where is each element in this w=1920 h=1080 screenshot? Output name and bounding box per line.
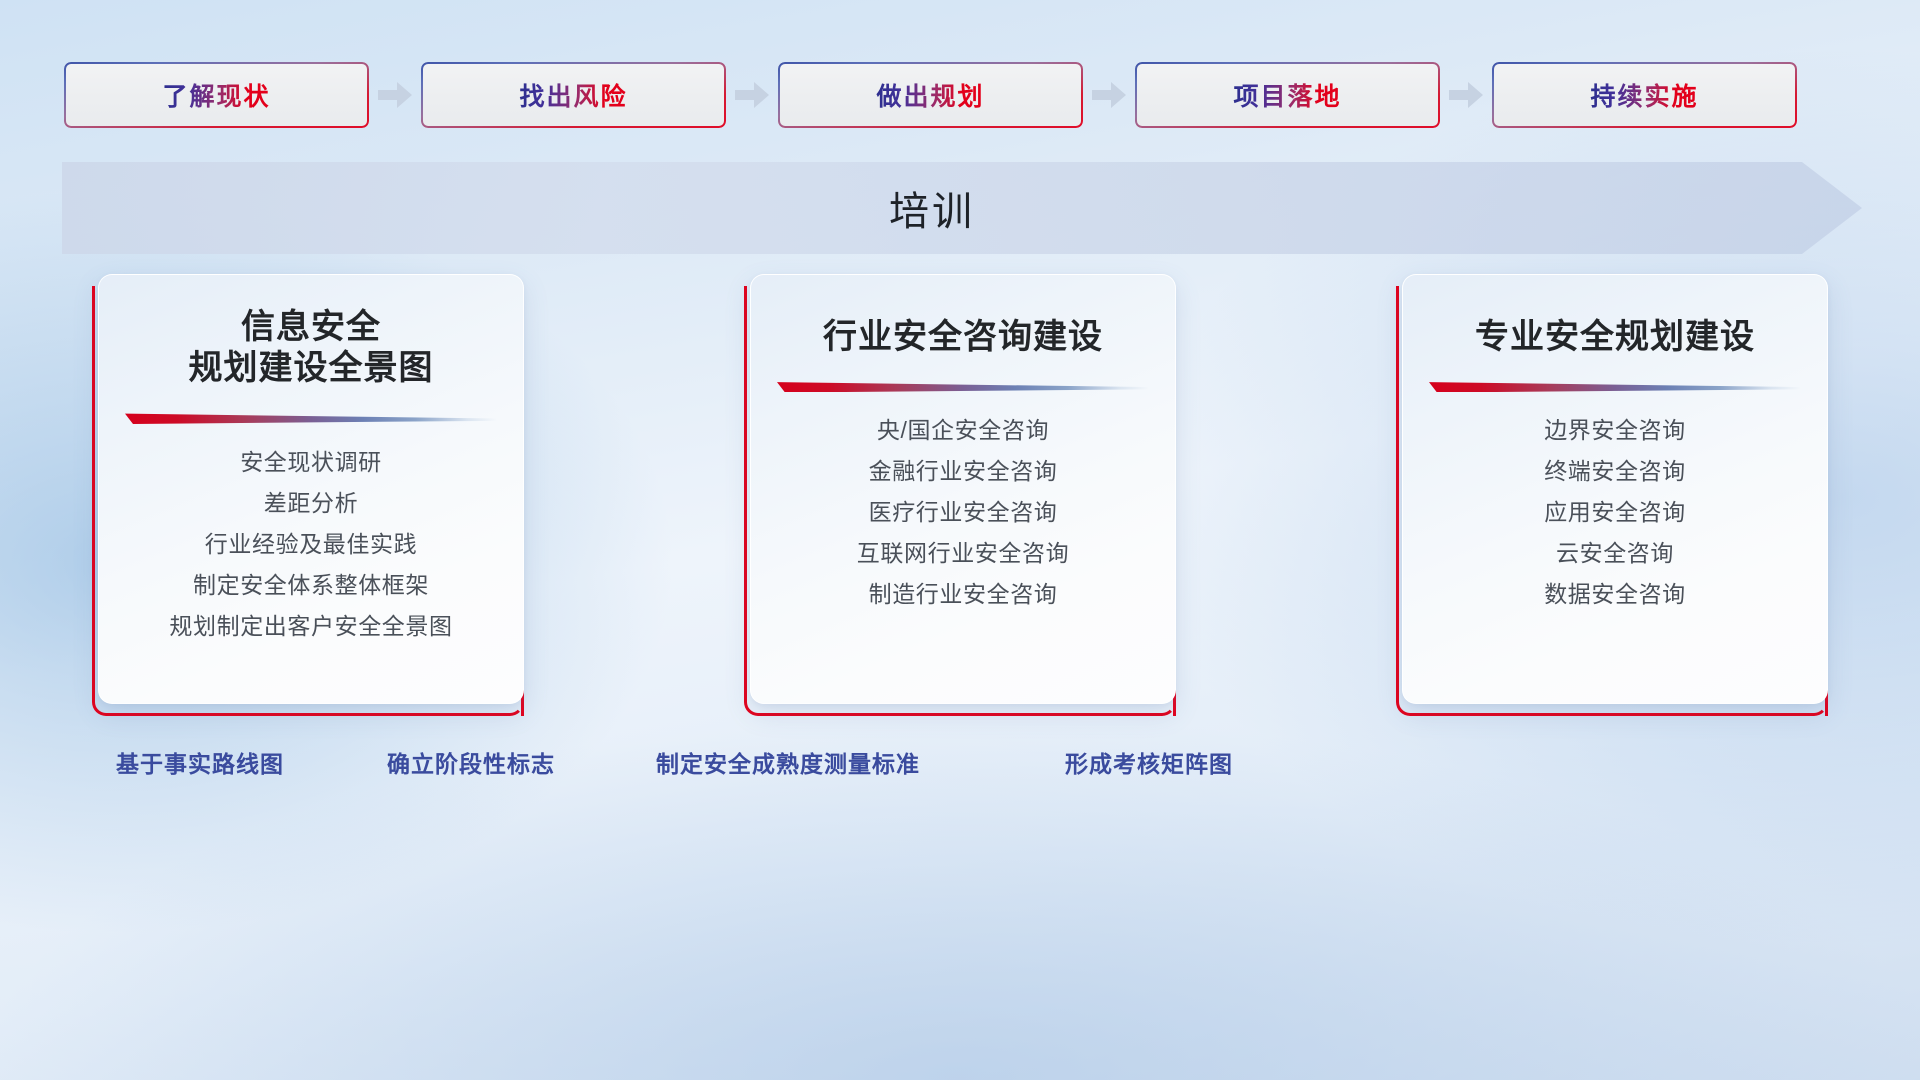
list-item[interactable]: 医疗行业安全咨询 [751, 492, 1175, 533]
list-item[interactable]: 金融行业安全咨询 [751, 451, 1175, 492]
card-title: 行业安全咨询建设 [751, 317, 1175, 358]
step-separator-arrow-right-icon [1083, 79, 1135, 111]
card-row: 信息安全 规划建设全景图安全现状调研差距分析行业经验及最佳实践制定安全体系整体框… [92, 274, 1828, 716]
step-box-5[interactable]: 持续实施 [1492, 62, 1797, 128]
step-label: 项目落地 [1233, 77, 1341, 113]
list-item[interactable]: 行业经验及最佳实践 [99, 524, 523, 565]
card-title: 信息安全 规划建设全景图 [99, 307, 523, 390]
step-label: 做出规划 [876, 77, 984, 113]
step-box-4[interactable]: 项目落地 [1135, 62, 1440, 128]
banner-title: 培训 [62, 162, 1802, 254]
step-box-3[interactable]: 做出规划 [778, 62, 1083, 128]
footer-label-2: 确立阶段性标志 [387, 745, 555, 779]
card-3: 专业安全规划建设边界安全咨询终端安全咨询应用安全咨询云安全咨询数据安全咨询 [1396, 274, 1828, 716]
footer-label-1: 基于事实路线图 [116, 745, 284, 779]
footer-label-3: 制定安全成熟度测量标准 [656, 745, 920, 779]
list-item[interactable]: 应用安全咨询 [1403, 492, 1827, 533]
step-label: 了解现状 [162, 77, 270, 113]
footer-label-row: 基于事实路线图确立阶段性标志制定安全成熟度测量标准形成考核矩阵图 [0, 745, 1920, 787]
card-divider-bar [1429, 380, 1801, 392]
list-item[interactable]: 规划制定出客户安全全景图 [99, 606, 523, 647]
list-item[interactable]: 终端安全咨询 [1403, 451, 1827, 492]
footer-label-4: 形成考核矩阵图 [1065, 745, 1233, 779]
step-separator-arrow-right-icon [369, 79, 421, 111]
list-item[interactable]: 数据安全咨询 [1403, 574, 1827, 615]
card-divider-bar [777, 380, 1149, 392]
list-item[interactable]: 制定安全体系整体框架 [99, 565, 523, 606]
process-step-row: 了解现状找出风险做出规划项目落地持续实施 [64, 62, 1856, 128]
step-box-2[interactable]: 找出风险 [421, 62, 726, 128]
card-item-list: 边界安全咨询终端安全咨询应用安全咨询云安全咨询数据安全咨询 [1403, 410, 1827, 615]
step-box-1[interactable]: 了解现状 [64, 62, 369, 128]
card-divider [777, 380, 1149, 392]
slide-canvas: 了解现状找出风险做出规划项目落地持续实施 培训 信息安全 规划建设全景图安全现状… [0, 0, 1920, 1080]
list-item[interactable]: 制造行业安全咨询 [751, 574, 1175, 615]
card-panel[interactable]: 行业安全咨询建设央/国企安全咨询金融行业安全咨询医疗行业安全咨询互联网行业安全咨… [750, 274, 1176, 704]
card-divider [125, 412, 497, 424]
step-label: 持续实施 [1590, 77, 1698, 113]
card-panel[interactable]: 专业安全规划建设边界安全咨询终端安全咨询应用安全咨询云安全咨询数据安全咨询 [1402, 274, 1828, 704]
step-label: 找出风险 [519, 77, 627, 113]
card-divider [1429, 380, 1801, 392]
card-title: 专业安全规划建设 [1403, 317, 1827, 358]
step-separator-arrow-right-icon [1440, 79, 1492, 111]
list-item[interactable]: 互联网行业安全咨询 [751, 533, 1175, 574]
list-item[interactable]: 安全现状调研 [99, 442, 523, 483]
card-item-list: 安全现状调研差距分析行业经验及最佳实践制定安全体系整体框架规划制定出客户安全全景… [99, 442, 523, 647]
list-item[interactable]: 边界安全咨询 [1403, 410, 1827, 451]
training-banner: 培训 [62, 162, 1862, 254]
card-divider-bar [125, 412, 497, 424]
card-panel[interactable]: 信息安全 规划建设全景图安全现状调研差距分析行业经验及最佳实践制定安全体系整体框… [98, 274, 524, 704]
list-item[interactable]: 央/国企安全咨询 [751, 410, 1175, 451]
card-item-list: 央/国企安全咨询金融行业安全咨询医疗行业安全咨询互联网行业安全咨询制造行业安全咨… [751, 410, 1175, 615]
list-item[interactable]: 差距分析 [99, 483, 523, 524]
card-1: 信息安全 规划建设全景图安全现状调研差距分析行业经验及最佳实践制定安全体系整体框… [92, 274, 524, 716]
step-separator-arrow-right-icon [726, 79, 778, 111]
list-item[interactable]: 云安全咨询 [1403, 533, 1827, 574]
card-2: 行业安全咨询建设央/国企安全咨询金融行业安全咨询医疗行业安全咨询互联网行业安全咨… [744, 274, 1176, 716]
